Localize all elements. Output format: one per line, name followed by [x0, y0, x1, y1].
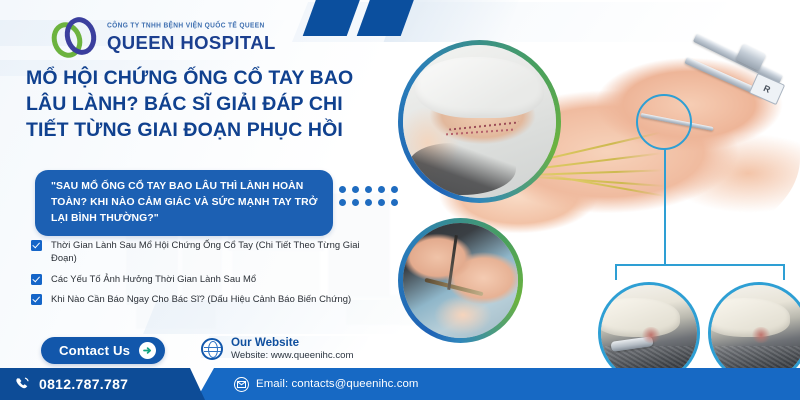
connector-bracket [615, 264, 785, 280]
checkbox-checked-icon [31, 240, 42, 251]
list-item-label: Thời Gian Lành Sau Mổ Hội Chứng Ống Cổ T… [51, 238, 361, 265]
bandage-artwork [403, 45, 556, 198]
dot [352, 199, 359, 206]
banner-root: CÔNG TY TNHH BỆNH VIỆN QUỐC TẾ QUEEN QUE… [0, 0, 800, 400]
decor-dot-grid [339, 186, 404, 212]
tissue-highlight [641, 327, 660, 342]
dot [339, 199, 346, 206]
globe-icon [201, 338, 223, 360]
dot [391, 186, 398, 193]
feature-checklist: Thời Gian Lành Sau Mổ Hội Chứng Ống Cổ T… [31, 238, 361, 312]
checkbox-checked-icon [31, 294, 42, 305]
website-url: Website: www.queenihc.com [231, 350, 353, 362]
phone-icon [14, 376, 30, 392]
website-title: Our Website [231, 336, 353, 349]
dot [365, 199, 372, 206]
zoom-highlight-ring [636, 94, 692, 150]
quote-callout: "SAU MỔ ỐNG CỔ TAY BAO LÂU THÌ LÀNH HOÀN… [35, 170, 333, 236]
dot [365, 186, 372, 193]
dot [339, 186, 346, 193]
envelope-icon [234, 377, 249, 392]
contact-us-button[interactable]: Contact Us [41, 337, 165, 364]
list-item: Các Yếu Tố Ảnh Hưởng Thời Gian Lành Sau … [31, 272, 361, 285]
list-item: Thời Gian Lành Sau Mổ Hội Chứng Ống Cổ T… [31, 238, 361, 265]
footer-email-segment[interactable]: Email: contacts@queenihc.com [196, 368, 800, 400]
photo-inner [403, 223, 518, 338]
brand-logo[interactable]: CÔNG TY TNHH BỆNH VIỆN QUỐC TẾ QUEEN QUE… [52, 16, 276, 60]
contact-us-label: Contact Us [59, 343, 130, 358]
surgery-procedure-photo [398, 218, 523, 343]
photo-inner [403, 45, 556, 198]
logo-text: CÔNG TY TNHH BỆNH VIỆN QUỐC TẾ QUEEN QUE… [107, 24, 276, 52]
website-text: Our Website Website: www.queenihc.com [231, 336, 353, 363]
logo-name: QUEEN HOSPITAL [107, 34, 276, 53]
photo-inner [601, 285, 697, 381]
dot [352, 186, 359, 193]
footer-phone: 0812.787.787 [39, 376, 128, 392]
footer-email: Email: contacts@queenihc.com [256, 378, 419, 390]
footer-phone-segment[interactable]: 0812.787.787 [0, 368, 205, 400]
arrow-right-icon [139, 342, 156, 359]
leader-line [664, 148, 666, 266]
logo-mark [52, 16, 98, 60]
list-item-label: Khi Nào Cần Báo Ngay Cho Bác Sĩ? (Dấu Hi… [51, 292, 351, 305]
bandaged-hand-photo [398, 40, 561, 203]
list-item: Khi Nào Cần Báo Ngay Cho Bác Sĩ? (Dấu Hi… [31, 292, 361, 305]
tissue-highlight [751, 327, 770, 342]
list-item-label: Các Yếu Tố Ảnh Hưởng Thời Gian Lành Sau … [51, 272, 256, 285]
dot [378, 186, 385, 193]
website-info[interactable]: Our Website Website: www.queenihc.com [201, 336, 353, 363]
dot [378, 199, 385, 206]
surgery-artwork [403, 223, 518, 338]
photo-inner [711, 285, 800, 381]
logo-tagline: CÔNG TY TNHH BỆNH VIỆN QUỐC TẾ QUEEN [107, 23, 276, 30]
page-title: MỔ HỘI CHỨNG ỐNG CỔ TAY BAO LÂU LÀNH? BÁ… [26, 66, 371, 144]
checkbox-checked-icon [31, 274, 42, 285]
dot [391, 199, 398, 206]
footer-bar: Email: contacts@queenihc.com 0812.787.78… [0, 368, 800, 400]
